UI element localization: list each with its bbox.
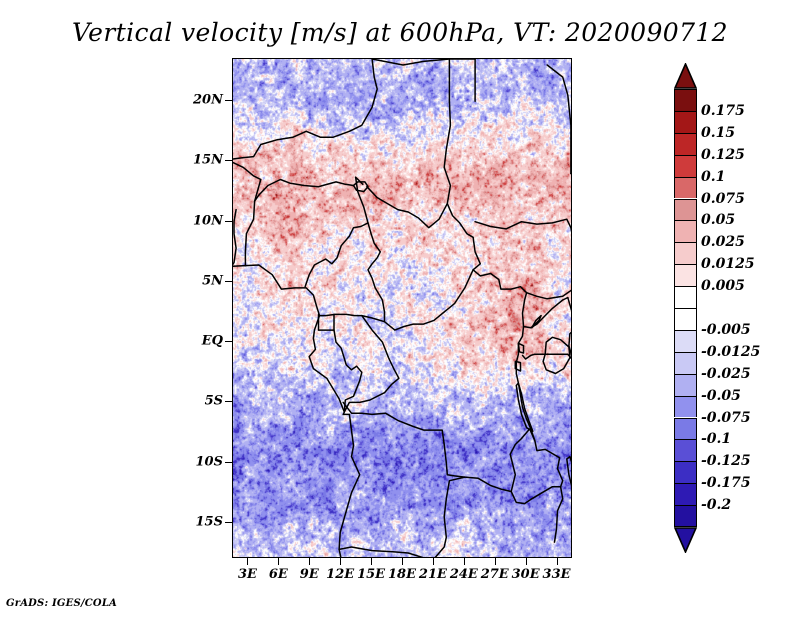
colorbar-band [674,396,697,418]
longitude-tick-label: 24E [450,567,478,582]
colorbar-tick-label: -0.005 [701,322,751,338]
latitude-tick [225,341,232,342]
colorbar-band [674,308,697,330]
latitude-tick [225,401,232,402]
colorbar-band [674,242,697,264]
longitude-tick [402,558,403,565]
colorbar-tick-label: 0.075 [701,191,745,207]
colorbar-band [674,155,697,177]
longitude-tick-label: 21E [419,567,447,582]
colorbar-tick-label: 0.05 [701,212,735,228]
latitude-tick [225,221,232,222]
colorbar-tick-label: -0.175 [701,475,751,491]
longitude-tick [464,558,465,565]
colorbar-band [674,286,697,308]
colorbar-band [674,461,697,483]
colorbar-tick-label: 0.1 [701,169,725,185]
longitude-tick-label: 33E [543,567,571,582]
colorbar: 0.1750.150.1250.10.0750.050.0250.01250.0… [674,63,697,553]
latitude-tick [225,160,232,161]
longitude-tick [309,558,310,565]
colorbar-band [674,133,697,155]
colorbar-band [674,483,697,505]
latitude-tick-label: 10S [196,454,223,469]
latitude-tick-label: 20N [193,93,223,108]
colorbar-band [674,220,697,242]
longitude-tick [557,558,558,565]
longitude-tick-label: 27E [481,567,509,582]
longitude-tick [495,558,496,565]
longitude-tick-label: 3E [238,567,257,582]
longitude-tick [371,558,372,565]
colorbar-tick-label: -0.025 [701,366,751,382]
latitude-tick-label: 15N [193,153,223,168]
colorbar-band [674,111,697,133]
colorbar-tick-label: 0.125 [701,147,745,163]
colorbar-tick-label: -0.1 [701,431,731,447]
latitude-tick-label: 5N [202,273,223,288]
map-frame [232,58,572,558]
attribution-footer: GrADS: IGES/COLA [6,598,117,609]
longitude-tick-label: 9E [300,567,319,582]
colorbar-band [674,374,697,396]
longitude-tick-label: 18E [388,567,416,582]
colorbar-tick-label: -0.05 [701,388,741,404]
colorbar-tick-label: -0.125 [701,453,751,469]
longitude-tick-label: 6E [269,567,288,582]
colorbar-tick-label: 0.005 [701,278,745,294]
colorbar-band [674,439,697,461]
colorbar-band [674,199,697,221]
colorbar-tick-label: -0.075 [701,410,751,426]
colorbar-tick-label: 0.175 [701,103,745,119]
latitude-tick-label: 10N [193,213,223,228]
colorbar-band [674,505,697,527]
map-plot-area: 20N15N10N5NEQ5S10S15S 3E6E9E12E15E18E21E… [232,58,572,558]
latitude-tick-label: EQ [202,334,223,349]
latitude-tick-label: 5S [205,394,223,409]
longitude-tick-label: 15E [357,567,385,582]
latitude-tick [225,281,232,282]
country-borders-overlay [233,59,572,558]
colorbar-min-arrow [674,527,697,553]
longitude-tick [526,558,527,565]
latitude-tick [225,522,232,523]
colorbar-tick-label: -0.0125 [701,344,760,360]
colorbar-band [674,89,697,111]
colorbar-band [674,418,697,440]
colorbar-max-arrow [674,63,697,89]
longitude-tick [433,558,434,565]
colorbar-tick-label: 0.15 [701,125,735,141]
colorbar-tick-label: 0.025 [701,234,745,250]
longitude-tick-label: 12E [326,567,354,582]
chart-title: Vertical velocity [m/s] at 600hPa, VT: 2… [0,18,800,47]
chart-figure: Vertical velocity [m/s] at 600hPa, VT: 2… [0,0,800,618]
latitude-tick [225,100,232,101]
latitude-tick [225,462,232,463]
colorbar-tick-label: -0.2 [701,497,731,513]
longitude-tick [340,558,341,565]
colorbar-band [674,330,697,352]
longitude-tick [247,558,248,565]
colorbar-band [674,352,697,374]
colorbar-band [674,264,697,286]
longitude-tick-label: 30E [512,567,540,582]
colorbar-tick-label: 0.0125 [701,256,755,272]
colorbar-band [674,177,697,199]
latitude-tick-label: 15S [196,514,223,529]
longitude-tick [278,558,279,565]
